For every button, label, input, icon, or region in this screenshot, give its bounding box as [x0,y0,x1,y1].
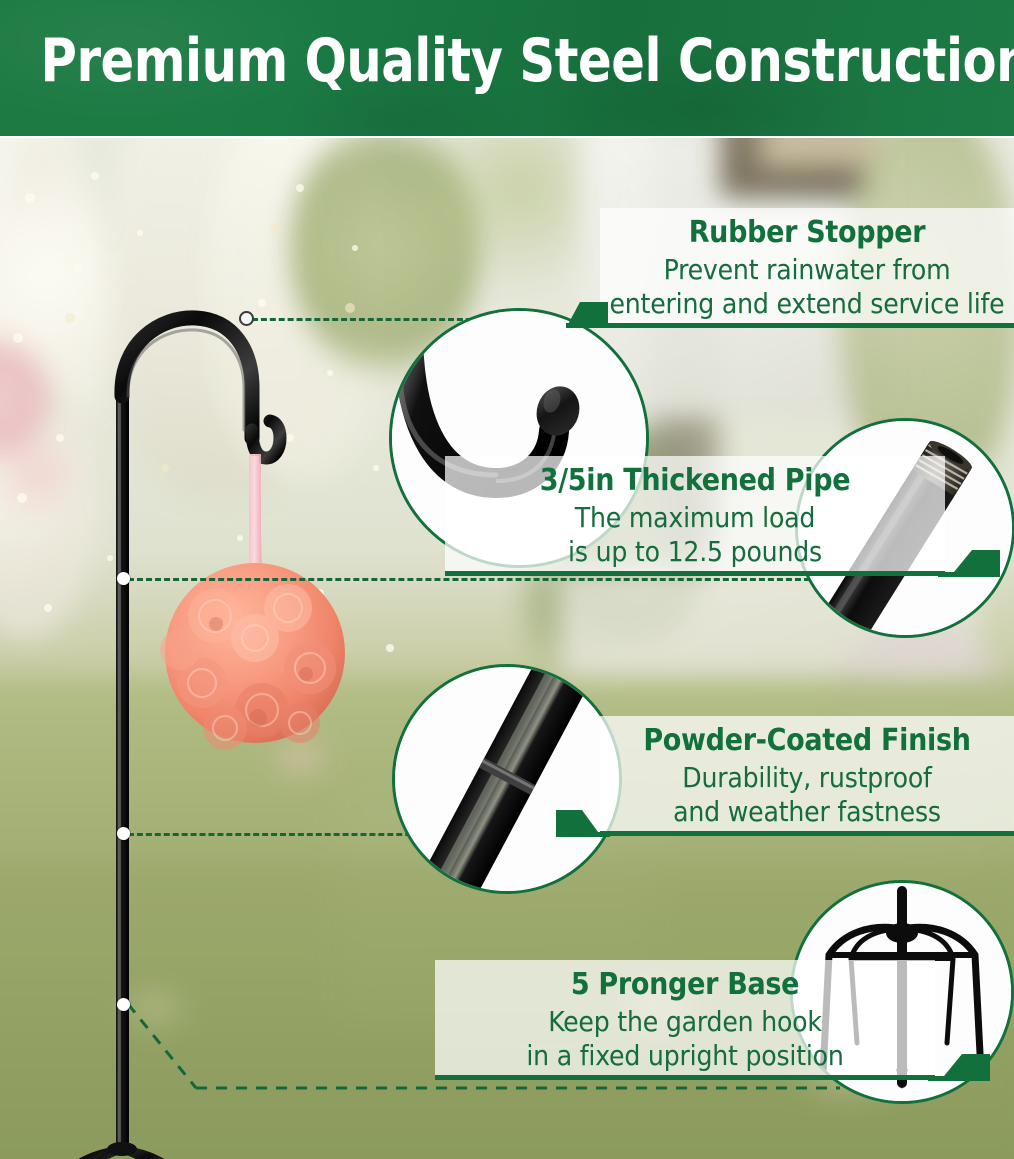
feature-panel-pronger-base: 5 Pronger Base Keep the garden hook in a… [435,960,935,1080]
feature-title-rubber-stopper: Rubber Stopper [600,216,1014,251]
feature-line1-rubber-stopper: Prevent rainwater from [600,254,1014,286]
feature-line2-pronger-base: in a fixed upright position [435,1040,935,1072]
header-banner: Premium Quality Steel Construction [0,0,1014,136]
feature-panel-thickened-pipe: 3/5in Thickened Pipe The maximum load is… [445,456,945,576]
feature-line1-powder-coated: Durability, rustproof [600,762,1014,794]
feature-panel-rubber-stopper: Rubber Stopper Prevent rainwater from en… [600,208,1014,328]
connector-anchor-thickened-pipe [117,572,130,585]
product-photo-stage: Rubber Stopper Prevent rainwater from en… [0,138,1014,1159]
infographic-page: Premium Quality Steel Construction [0,0,1014,1159]
feature-title-pronger-base: 5 Pronger Base [435,968,935,1003]
connector-line-thickened-pipe [128,578,828,581]
feature-line1-thickened-pipe: The maximum load [445,502,945,534]
page-title: Premium Quality Steel Construction [41,26,974,96]
feature-image-powder-coated [392,664,622,894]
connector-anchor-pronger-base [117,998,130,1011]
feature-rule-rubber-stopper [600,323,1014,328]
feature-notch-wedge-pronger-base [928,1050,998,1084]
feature-notch-wedge-thickened-pipe [938,546,1008,580]
feature-title-powder-coated: Powder-Coated Finish [600,724,1014,759]
feature-line2-powder-coated: and weather fastness [600,796,1014,828]
feature-notch-wedge-powder-coated [548,806,618,840]
feature-rule-thickened-pipe [445,571,945,576]
feature-panel-powder-coated: Powder-Coated Finish Durability, rustpro… [600,716,1014,836]
feature-line1-pronger-base: Keep the garden hook [435,1006,935,1038]
feature-line2-rubber-stopper: entering and extend service life [600,288,1014,320]
feature-rule-powder-coated [600,831,1014,836]
shepherd-hook-product [0,138,420,1159]
connector-anchor-rubber-stopper [239,311,254,326]
feature-line2-thickened-pipe: is up to 12.5 pounds [445,536,945,568]
feature-title-thickened-pipe: 3/5in Thickened Pipe [445,464,945,499]
feature-notch-wedge-rubber-stopper [556,298,616,330]
connector-anchor-powder-coated [117,827,130,840]
feature-rule-pronger-base [435,1075,935,1080]
connector-line-powder-coated [128,833,438,836]
